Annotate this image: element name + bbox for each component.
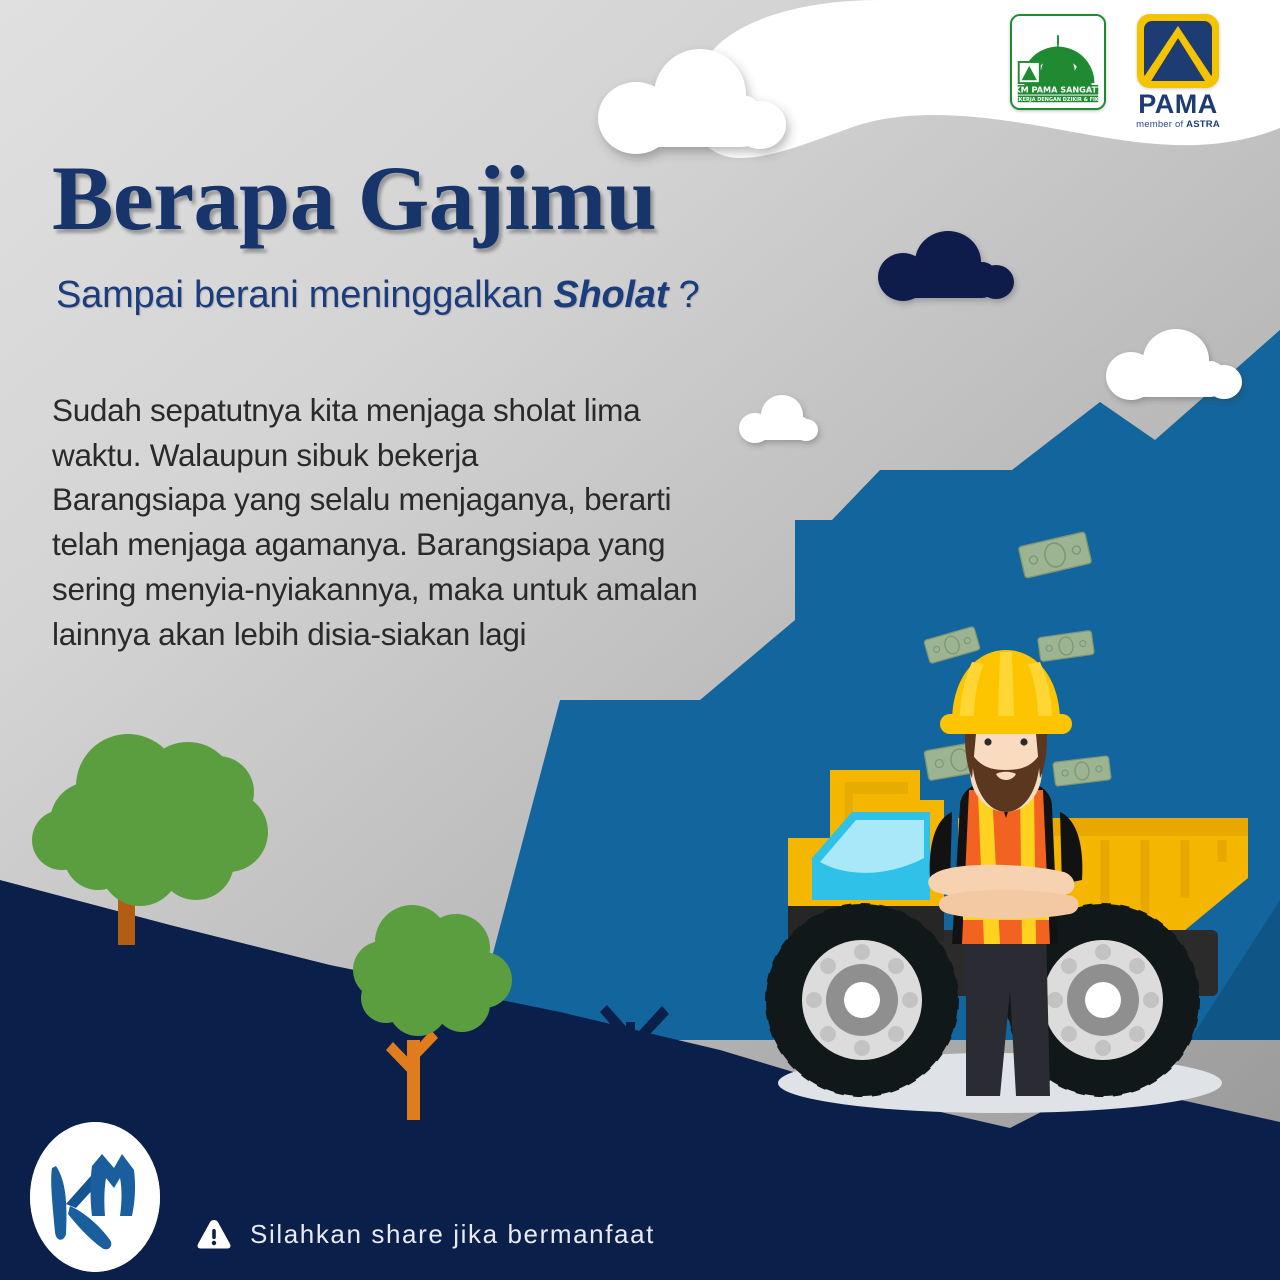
subtitle-suffix: ? <box>668 274 699 316</box>
km-logo-art <box>30 1122 160 1272</box>
body-line: waktu. Walaupun sibuk bekerja <box>52 433 792 478</box>
subtitle-prefix: Sampai berani meninggalkan <box>56 274 553 316</box>
pama-member-brand: ASTRA <box>1186 119 1220 130</box>
truck-wheel-front <box>766 904 958 1096</box>
body-line: Barangsiapa yang selalu menjaganya, bera… <box>52 477 792 522</box>
body-line: sering menyia-nyiakannya, maka untuk ama… <box>52 567 792 612</box>
cloud-behind-banner <box>888 8 992 112</box>
logo-bar: DKM PAMA SANGATTA BEKERJA DENGAN DZIKIR … <box>1010 0 1280 130</box>
subtitle-emphasis: Sholat <box>553 274 668 316</box>
warning-triangle-icon <box>196 1218 232 1250</box>
page-title: Berapa Gajimu <box>52 152 656 246</box>
pama-mark-icon <box>1137 14 1219 88</box>
dkm-title-text: DKM PAMA SANGATTA <box>1012 85 1104 95</box>
worker-arm-lower <box>939 890 1079 919</box>
pama-logo: PAMA member of ASTRA <box>1128 14 1228 130</box>
pama-member-prefix: member of <box>1136 119 1186 130</box>
share-note-text: Silahkan share jika bermanfaat <box>250 1219 655 1250</box>
body-line: Sudah sepatutnya kita menjaga sholat lim… <box>52 388 792 433</box>
page-subtitle: Sampai berani meninggalkan Sholat ? <box>56 274 700 317</box>
dkm-pama-sangatta-logo: DKM PAMA SANGATTA BEKERJA DENGAN DZIKIR … <box>1010 14 1106 110</box>
dkm-tagline-text: BEKERJA DENGAN DZIKIR & FIKIR <box>1012 97 1104 103</box>
pama-member-line: member of ASTRA <box>1128 119 1228 130</box>
km-logo <box>30 1122 160 1272</box>
body-copy: Sudah sepatutnya kita menjaga sholat lim… <box>52 388 792 656</box>
body-line: lainnya akan lebih disia-siakan lagi <box>52 612 792 657</box>
dkm-logo-art: DKM PAMA SANGATTA BEKERJA DENGAN DZIKIR … <box>1012 16 1104 108</box>
share-note: Silahkan share jika bermanfaat <box>196 1218 655 1250</box>
body-line: telah menjaga agamanya. Barangsiapa yang <box>52 522 792 567</box>
poster-canvas: Berapa Gajimu Sampai berani meninggalkan… <box>0 0 1280 1280</box>
pama-wordmark: PAMA <box>1128 91 1228 118</box>
